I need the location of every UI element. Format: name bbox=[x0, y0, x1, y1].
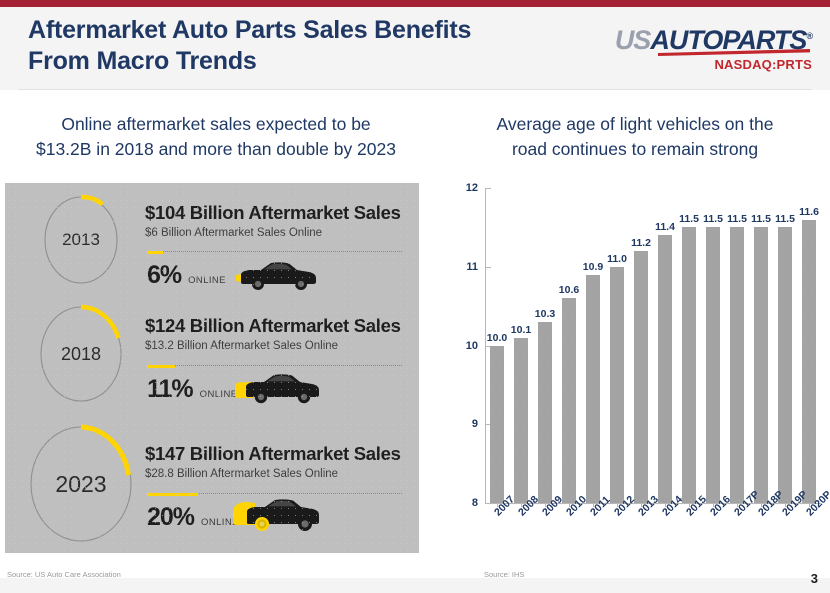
gauge-year-label-2013: 2013 bbox=[43, 195, 119, 285]
chart-bar bbox=[634, 251, 649, 503]
percent-block-2023: 20% ONLINE bbox=[147, 503, 239, 532]
percent-block-2013: 6% ONLINE bbox=[147, 261, 226, 290]
right-heading-line1: Average age of light vehicles on the bbox=[440, 112, 830, 137]
chart-y-tick-label: 10 bbox=[456, 340, 478, 352]
chart-bar bbox=[562, 298, 577, 503]
percent-caption-2013: ONLINE bbox=[188, 275, 226, 286]
car-icon-2013 bbox=[233, 261, 318, 291]
chart-bar bbox=[706, 227, 721, 503]
chart-y-tick-label: 9 bbox=[456, 418, 478, 430]
donut-gauge-2013: 2013 bbox=[43, 195, 119, 285]
car-icon-2023 bbox=[229, 497, 321, 533]
sales-text-2018: $124 Billion Aftermarket Sales $13.2 Bil… bbox=[145, 315, 401, 352]
chart-bar bbox=[586, 275, 601, 503]
progress-fill-2018 bbox=[147, 365, 175, 368]
chart-bar bbox=[610, 267, 625, 503]
chart-bar bbox=[802, 220, 817, 504]
chart-y-tick-label: 8 bbox=[456, 497, 478, 509]
progress-fill-2013 bbox=[147, 251, 163, 254]
left-section-heading: Online aftermarket sales expected to be … bbox=[0, 112, 432, 162]
chart-y-tick-label: 12 bbox=[456, 182, 478, 194]
percent-value-2018: 11% bbox=[147, 375, 193, 404]
logo-us-text: US bbox=[615, 25, 651, 55]
chart-bar bbox=[658, 235, 673, 503]
chart-bar bbox=[754, 227, 769, 503]
percent-value-2023: 20% bbox=[147, 503, 194, 532]
headline-2018: $124 Billion Aftermarket Sales bbox=[145, 315, 401, 337]
right-heading-line2: road continues to remain strong bbox=[440, 137, 830, 162]
registered-trademark-icon: ® bbox=[806, 31, 812, 41]
subline-2018: $13.2 Billion Aftermarket Sales Online bbox=[145, 340, 401, 352]
chart-y-tick-label: 11 bbox=[456, 261, 478, 273]
top-accent-bar bbox=[0, 0, 830, 7]
chart-bar-value-label: 11.0 bbox=[601, 253, 633, 265]
progress-track-2018 bbox=[147, 365, 402, 369]
page-title-line2: From Macro Trends bbox=[28, 46, 598, 77]
headline-2013: $104 Billion Aftermarket Sales bbox=[145, 202, 401, 224]
chart-bar bbox=[778, 227, 793, 503]
nasdaq-ticker: NASDAQ:PRTS bbox=[602, 57, 812, 72]
percent-value-2013: 6% bbox=[147, 261, 181, 290]
progress-track-2013 bbox=[147, 251, 402, 255]
right-section-heading: Average age of light vehicles on the roa… bbox=[440, 112, 830, 162]
chart-bar-value-label: 10.6 bbox=[553, 284, 585, 296]
left-heading-line1: Online aftermarket sales expected to be bbox=[0, 112, 432, 137]
page-title: Aftermarket Auto Parts Sales Benefits Fr… bbox=[28, 15, 598, 77]
donut-gauge-2018: 2018 bbox=[39, 305, 123, 403]
chart-bar-value-label: 11.2 bbox=[625, 237, 657, 249]
subline-2023: $28.8 Billion Aftermarket Sales Online bbox=[145, 468, 401, 480]
page-title-line1: Aftermarket Auto Parts Sales Benefits bbox=[28, 16, 471, 44]
chart-bar-value-label: 10.3 bbox=[529, 308, 561, 320]
chart-bar bbox=[514, 338, 529, 503]
percent-block-2018: 11% ONLINE bbox=[147, 375, 237, 404]
gauge-year-label-2018: 2018 bbox=[39, 305, 123, 403]
sales-text-2013: $104 Billion Aftermarket Sales $6 Billio… bbox=[145, 202, 401, 239]
header-divider bbox=[18, 89, 812, 90]
infographic-row-2013: 2013 $104 Billion Aftermarket Sales $6 B… bbox=[5, 183, 419, 295]
left-heading-line2: $13.2B in 2018 and more than double by 2… bbox=[0, 137, 432, 162]
chart-bar bbox=[490, 346, 505, 504]
car-icon-2018 bbox=[233, 373, 321, 405]
subline-2013: $6 Billion Aftermarket Sales Online bbox=[145, 227, 401, 239]
slide-header: Aftermarket Auto Parts Sales Benefits Fr… bbox=[0, 7, 830, 90]
chart-bar bbox=[538, 322, 553, 503]
sales-infographic-panel: 2013 $104 Billion Aftermarket Sales $6 B… bbox=[5, 183, 419, 553]
chart-bar-value-label: 10.1 bbox=[505, 324, 537, 336]
us-auto-parts-logo: USAUTOPARTS® NASDAQ:PRTS bbox=[602, 21, 812, 81]
infographic-row-2023: 2023 $147 Billion Aftermarket Sales $28.… bbox=[5, 415, 419, 553]
chart-bar bbox=[682, 227, 697, 503]
chart-plot-area: 10.010.110.310.610.911.011.211.411.511.5… bbox=[485, 188, 821, 503]
footer-band bbox=[0, 578, 830, 593]
average-vehicle-age-chart: 89101112 10.010.110.310.610.911.011.211.… bbox=[445, 180, 825, 555]
chart-bar bbox=[730, 227, 745, 503]
donut-gauge-2023: 2023 bbox=[29, 425, 133, 543]
chart-bar-value-label: 11.6 bbox=[793, 206, 825, 218]
gauge-year-label-2023: 2023 bbox=[29, 425, 133, 543]
page-number: 3 bbox=[811, 571, 818, 586]
progress-fill-2023 bbox=[147, 493, 198, 496]
logo-wordmark: USAUTOPARTS® bbox=[602, 21, 812, 51]
percent-caption-2018: ONLINE bbox=[200, 389, 238, 400]
sales-text-2023: $147 Billion Aftermarket Sales $28.8 Bil… bbox=[145, 443, 401, 480]
infographic-row-2018: 2018 $124 Billion Aftermarket Sales $13.… bbox=[5, 295, 419, 415]
headline-2023: $147 Billion Aftermarket Sales bbox=[145, 443, 401, 465]
